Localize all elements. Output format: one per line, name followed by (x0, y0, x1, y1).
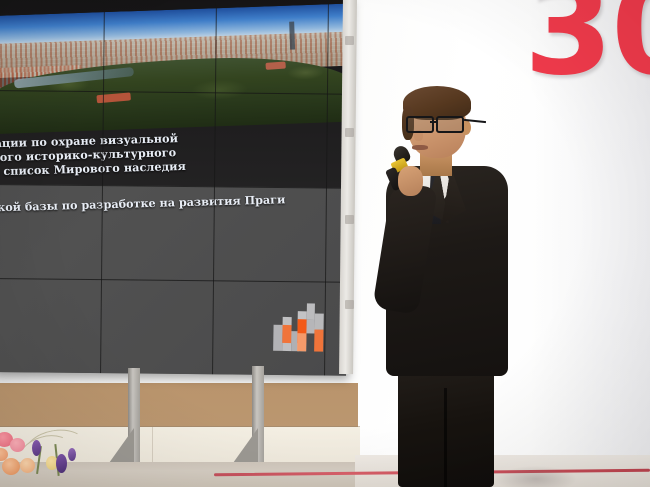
glasses-lens-left (406, 116, 434, 133)
frame-fitting-3 (345, 215, 354, 224)
backdrop-panel-join-left (152, 427, 153, 467)
flower-bloom-peach-2 (2, 458, 20, 475)
flower-bloom-pink-2 (10, 438, 25, 452)
panorama-tower (289, 22, 295, 50)
speaker-floor-shadow (496, 466, 576, 487)
glasses-bridge (430, 121, 438, 123)
glasses-lens-right (436, 116, 464, 133)
flower-bloom-iris-1 (32, 440, 41, 456)
frame-fitting-1 (345, 36, 354, 45)
speaker-person (372, 88, 532, 487)
flower-bloom-iris-3 (68, 448, 76, 461)
glasses-temple (464, 119, 486, 123)
frame-fitting-4 (345, 300, 354, 309)
speaker-mouth (412, 145, 428, 150)
prague-panorama-image (0, 3, 350, 133)
flower-bloom-iris-2 (56, 454, 67, 473)
photograph-scene: 30 ской документации по охране визуально… (0, 0, 650, 487)
panorama-red-roof-2 (265, 62, 285, 70)
banner-number-30: 30 (524, 0, 650, 94)
flower-arrangement (0, 428, 106, 487)
speaker-hand (398, 166, 423, 196)
frame-fitting-2 (345, 128, 354, 137)
video-wall: ской документации по охране визуальной т… (0, 0, 350, 376)
speaker-glasses (406, 116, 468, 130)
pixel-block-logo (273, 303, 326, 354)
trouser-crease (444, 388, 447, 487)
flower-bloom-peach-3 (20, 458, 35, 473)
